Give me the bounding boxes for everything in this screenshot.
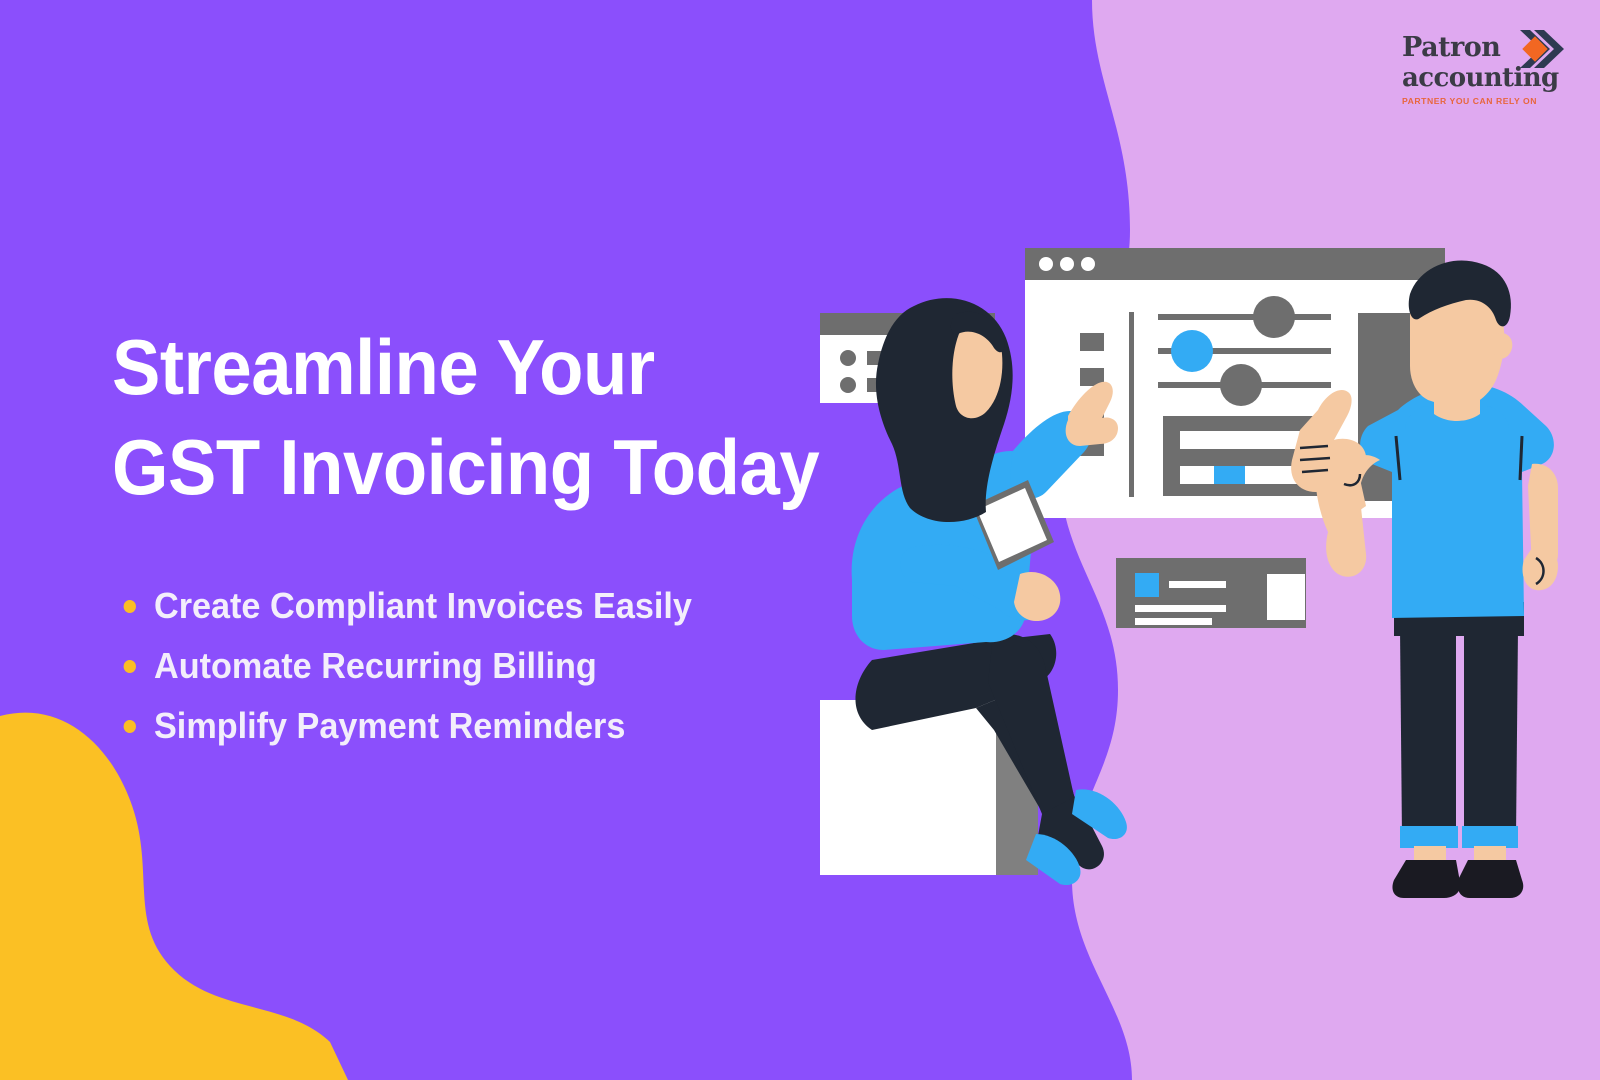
info-card	[1116, 558, 1306, 628]
info-card-line	[1135, 605, 1226, 612]
man-shoe-right	[1458, 860, 1524, 898]
window-dot-icon[interactable]	[1081, 257, 1095, 271]
list-item: Automate Recurring Billing	[154, 648, 836, 684]
brand-logo[interactable]: Patron accounting PARTNER YOU CAN RELY O…	[1402, 34, 1552, 106]
info-card-line	[1135, 618, 1212, 625]
list-item-label: Create Compliant Invoices Easily	[154, 585, 692, 626]
bullet-dot-icon	[124, 660, 136, 673]
list-item: Simplify Payment Reminders	[154, 708, 836, 744]
window-dot-icon[interactable]	[1039, 257, 1053, 271]
hero-copy: Streamline Your GST Invoicing Today Crea…	[112, 318, 872, 744]
slider-handle[interactable]	[1171, 330, 1213, 372]
info-card-line	[1169, 581, 1226, 588]
page-title: Streamline Your GST Invoicing Today	[112, 318, 819, 518]
info-card-image	[1267, 574, 1305, 620]
bullet-dot-icon	[124, 600, 136, 613]
sidebar-tile[interactable]	[1080, 333, 1104, 351]
form-input-field[interactable]	[1180, 431, 1313, 449]
slider-handle[interactable]	[1220, 364, 1262, 406]
man-neck	[1434, 390, 1480, 422]
man-jean-cuff	[1400, 826, 1458, 848]
list-item-label: Simplify Payment Reminders	[154, 705, 625, 746]
slider-handle[interactable]	[1253, 296, 1295, 338]
chevron-arrow-diamond-icon	[1516, 28, 1570, 70]
man-sleeve-line-right	[1520, 436, 1522, 480]
form-progress-fill	[1214, 466, 1245, 484]
man-shoe-left	[1392, 860, 1460, 898]
man-ear	[1494, 333, 1512, 359]
logo-wordmark-row: Patron	[1402, 34, 1552, 64]
feature-list: Create Compliant Invoices Easily Automat…	[112, 588, 872, 744]
window-dot-icon[interactable]	[1060, 257, 1074, 271]
headline-line-1: Streamline Your	[112, 318, 819, 418]
man-leg-right	[1464, 628, 1518, 838]
man-hand-right	[1523, 547, 1559, 590]
list-item: Create Compliant Invoices Easily	[154, 588, 836, 624]
logo-tagline: PARTNER YOU CAN RELY ON	[1402, 97, 1552, 106]
list-item-label: Automate Recurring Billing	[154, 645, 597, 686]
dashboard-window	[1025, 248, 1445, 518]
man-jean-cuff	[1462, 826, 1518, 848]
headline-line-2: GST Invoicing Today	[112, 418, 819, 518]
sidebar-divider	[1129, 312, 1134, 497]
bullet-dot-icon	[124, 720, 136, 733]
hero-illustration	[780, 230, 1580, 930]
info-card-thumbnail	[1135, 573, 1159, 597]
woman-hand-holding-tablet	[1014, 572, 1060, 621]
marketing-banner: Patron accounting PARTNER YOU CAN RELY O…	[0, 0, 1600, 1080]
man-leg-left	[1400, 628, 1456, 838]
